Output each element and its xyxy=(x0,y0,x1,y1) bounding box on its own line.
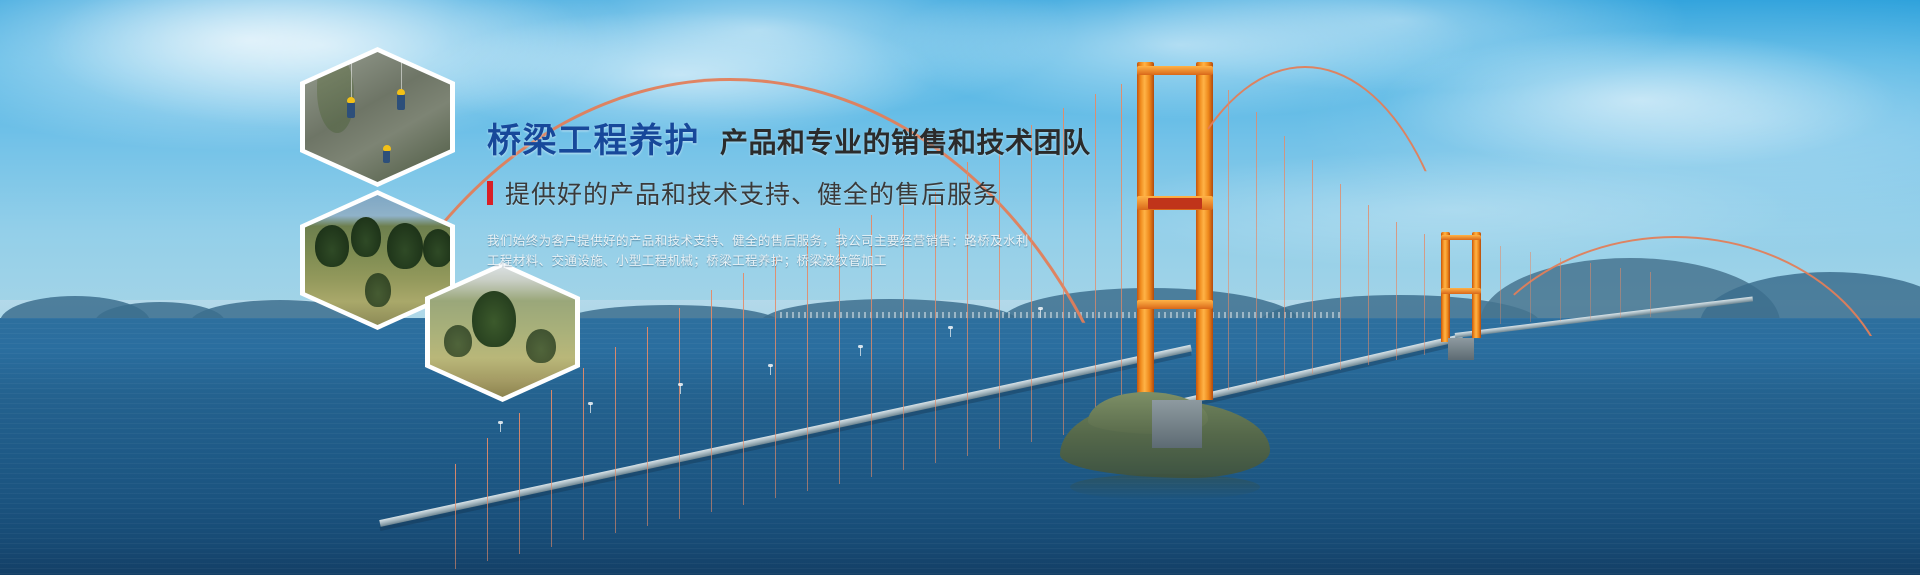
shrub-shape xyxy=(444,325,472,357)
red-accent-bar xyxy=(487,181,493,205)
bridge-hanger xyxy=(1590,263,1591,319)
bridge-hanger xyxy=(1396,222,1397,360)
bridge-lamp xyxy=(1040,309,1041,318)
bridge-hanger xyxy=(1650,272,1651,317)
headline-primary: 桥梁工程养护 xyxy=(487,122,700,160)
worker-figure xyxy=(383,150,390,163)
thumbnail-rock-slope-mesh-workers[interactable] xyxy=(300,47,455,187)
bridge-hanger xyxy=(1560,258,1561,321)
bridge-hanger xyxy=(615,347,616,533)
tower-crossbeam xyxy=(1137,66,1213,75)
bridge-lamp xyxy=(590,404,591,413)
tree-shape xyxy=(472,291,516,347)
bridge-hanger xyxy=(647,327,648,526)
bridge-hanger xyxy=(1530,252,1531,322)
bridge-hanger xyxy=(519,413,520,554)
bridge-hanger xyxy=(455,464,456,569)
bridge-pier-far xyxy=(1448,338,1474,360)
bridge-hanger xyxy=(679,308,680,519)
shrub-shape xyxy=(526,329,556,363)
headline-row: 桥梁工程养护产品和专业的销售和技术团队 xyxy=(487,124,1387,158)
bridge-lamp xyxy=(950,328,951,337)
bridge-hanger xyxy=(807,242,808,491)
banner-copy: 桥梁工程养护产品和专业的销售和技术团队 提供好的产品和技术支持、健全的售后服务 … xyxy=(487,124,1387,271)
bridge-main-cable-far xyxy=(1455,236,1895,416)
worker-figure xyxy=(347,102,355,118)
worker-figure xyxy=(397,94,405,110)
tree-shape xyxy=(315,225,349,267)
bridge-lamp xyxy=(500,423,501,432)
hero-banner: 桥梁工程养护产品和专业的销售和技术团队 提供好的产品和技术支持、健全的售后服务 … xyxy=(0,0,1920,575)
body-paragraph: 我们始终为客户提供好的产品和技术支持、健全的售后服务，我公司主要经营销售：路桥及… xyxy=(487,231,1387,271)
subtitle-text: 提供好的产品和技术支持、健全的售后服务 xyxy=(505,175,999,211)
bridge-hanger xyxy=(551,390,552,547)
body-line-1: 我们始终为客户提供好的产品和技术支持、健全的售后服务，我公司主要经营销售：路桥及… xyxy=(487,231,1387,251)
bridge-lamp xyxy=(860,347,861,356)
suspension-bridge xyxy=(0,0,1920,575)
bridge-hanger xyxy=(1500,246,1501,324)
bridge-hanger xyxy=(775,257,776,498)
bridge-pier xyxy=(1152,400,1202,448)
bridge-tower-far-right xyxy=(1472,232,1481,338)
bridge-lamp xyxy=(680,385,681,394)
bridge-hanger xyxy=(711,290,712,512)
bridge-hanger xyxy=(743,273,744,505)
bridge-lamp xyxy=(770,366,771,375)
bridge-hanger xyxy=(583,368,584,540)
headline-secondary: 产品和专业的销售和技术团队 xyxy=(720,127,1091,158)
thumbnail-shrub-slope-mesh[interactable] xyxy=(425,262,580,402)
bridge-hanger xyxy=(1620,268,1621,318)
body-line-2: 工程材料、交通设施、小型工程机械；桥梁工程养护；桥梁波纹管加工 xyxy=(487,251,1387,271)
tree-shape xyxy=(351,217,381,257)
subtitle-row: 提供好的产品和技术支持、健全的售后服务 xyxy=(487,175,1387,211)
bridge-hanger xyxy=(487,438,488,561)
tree-shape xyxy=(365,273,391,307)
island-reflection xyxy=(1070,474,1260,500)
bridge-hanger xyxy=(1424,234,1425,355)
tree-shape xyxy=(387,223,423,269)
